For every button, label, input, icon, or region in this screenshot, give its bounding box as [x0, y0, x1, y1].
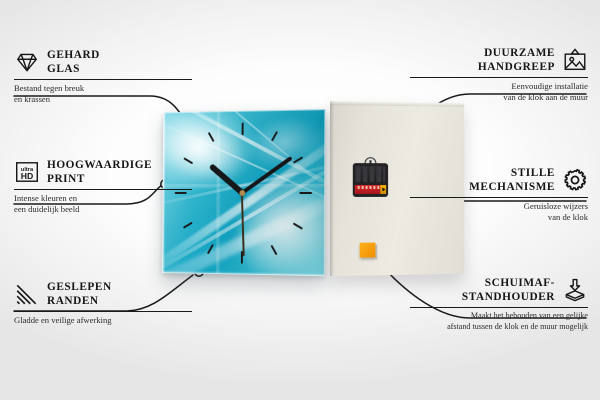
- divider: [14, 79, 192, 80]
- feature-desc-line1: Bestand tegen breuk: [14, 83, 84, 93]
- feature-desc-line1: Gladde en veilige afwerking: [14, 315, 112, 325]
- feature-desc-line2: en krassen: [14, 94, 50, 104]
- feature-title-line2: HANDGREEP: [478, 61, 555, 73]
- clock-minute-hand: [241, 155, 293, 194]
- arrow-down-onto-pad-icon: [562, 277, 588, 303]
- feature-desc-line1: Maakt het behouden van een gelijke: [471, 311, 588, 320]
- ultra-hd-icon: ultra HD: [14, 159, 40, 185]
- divider: [410, 197, 588, 198]
- feature-desc-line1: Eenvoudige installatie: [511, 81, 588, 91]
- infographic-stage: 10:10 GEHARD: [0, 0, 600, 400]
- quartz-mechanism[interactable]: [353, 163, 388, 197]
- battery: [355, 185, 386, 194]
- feature-desc-line1: Geruisloze wijzers: [524, 201, 588, 211]
- feature-title-line2: PRINT: [47, 173, 85, 185]
- feature-desc-line2: afstand tussen de klok en de muur mogeli…: [447, 322, 588, 331]
- svg-text:HD: HD: [21, 171, 34, 181]
- feature-gehard-glas: GEHARD GLAS Bestand tegen breuk en krass…: [14, 48, 192, 106]
- clock-center-cap: [239, 190, 245, 196]
- feature-title-line2: RANDEN: [47, 295, 99, 307]
- feature-desc-line2: van de klok: [548, 212, 588, 222]
- diagonal-lines-icon: [14, 281, 40, 307]
- feature-title-line1: HOOGWAARDIGE: [47, 159, 152, 171]
- feature-title-line1: STILLE: [511, 167, 555, 179]
- feature-title-line2: GLAS: [47, 63, 80, 75]
- feature-desc-line1: Intense kleuren en: [14, 193, 77, 203]
- hanging-picture-frame-icon: [562, 47, 588, 73]
- feature-title-line1: SCHUIMAF-: [485, 277, 555, 289]
- diamond-icon: [14, 49, 40, 75]
- divider: [14, 189, 192, 190]
- feature-title-line1: DUURZAME: [484, 47, 555, 59]
- clock-second-hand: [242, 192, 245, 255]
- feature-title-line2: STANDHOUDER: [462, 291, 555, 303]
- feature-title-line1: GESLEPEN: [47, 281, 112, 293]
- foam-spacer-pad[interactable]: [360, 243, 376, 258]
- feature-desc-line2: van de klok aan de muur: [503, 92, 588, 102]
- gear-icon: [562, 167, 588, 193]
- feature-stille-mechanisme: STILLE MECHANISME Geruisloze wijzers van…: [410, 166, 588, 224]
- feature-title-line1: GEHARD: [47, 49, 100, 61]
- divider: [410, 307, 588, 308]
- divider: [410, 77, 588, 78]
- feature-desc-line2: een duidelijk beeld: [14, 204, 79, 214]
- feature-hoogwaardige-print: ultra HD HOOGWAARDIGE PRINT Intense kleu…: [14, 158, 192, 216]
- divider: [14, 311, 192, 312]
- feature-geslepen-randen: GESLEPEN RANDEN Gladde en veilige afwerk…: [14, 280, 192, 326]
- feature-duurzame-handgreep: DUURZAME HANDGREEP Eenvoudige installati…: [410, 46, 588, 104]
- feature-title-line2: MECHANISME: [469, 181, 555, 193]
- feature-schuimafstandhouder: SCHUIMAF- STANDHOUDER Maakt het behouden…: [410, 276, 588, 333]
